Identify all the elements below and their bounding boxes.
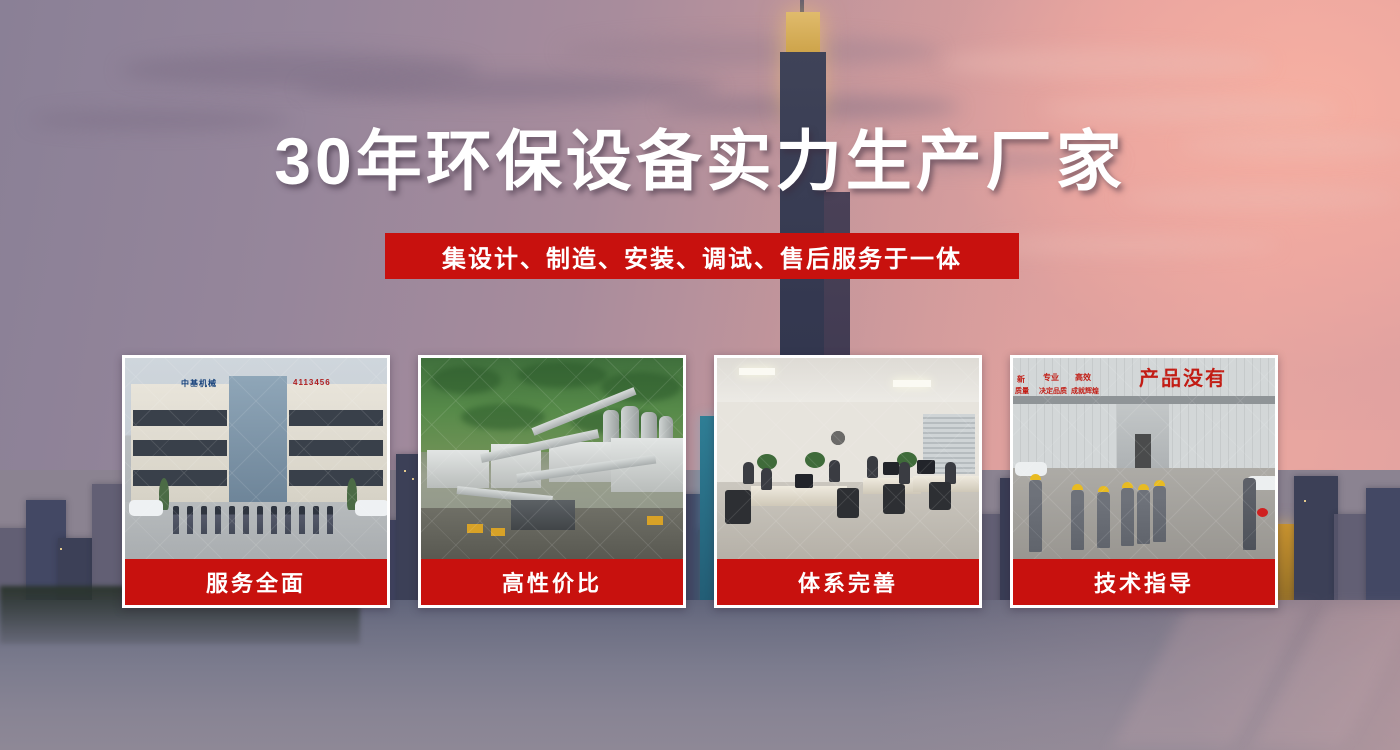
feature-card[interactable]: 体系完善 xyxy=(714,355,982,608)
banner-stage: 30年环保设备实力生产厂家 集设计、制造、安装、调试、售后服务于一体 中基机械 … xyxy=(0,0,1400,750)
feature-card[interactable]: 产品没有 新 专业 质量 决定品质 高效 成就辉煌 xyxy=(1010,355,1278,608)
factory-wall-slogan: 产品没有 xyxy=(1139,362,1227,391)
feature-card[interactable]: 中基机械 4113456 xyxy=(122,355,390,608)
subtitle-text: 集设计、制造、安装、调试、售后服务于一体 xyxy=(442,239,962,274)
card-photo-office-building: 中基机械 4113456 xyxy=(125,358,387,559)
card-caption-bar: 体系完善 xyxy=(717,559,979,605)
card-caption-bar: 高性价比 xyxy=(421,559,683,605)
building-phone: 4113456 xyxy=(293,378,331,387)
card-caption-bar: 服务全面 xyxy=(125,559,387,605)
card-caption-text: 体系完善 xyxy=(798,566,898,598)
feature-card-list: 中基机械 4113456 xyxy=(122,355,1278,608)
card-caption-text: 高性价比 xyxy=(502,566,602,598)
card-caption-text: 技术指导 xyxy=(1094,566,1194,598)
card-photo-plant-aerial xyxy=(421,358,683,559)
card-caption-text: 服务全面 xyxy=(206,566,306,598)
feature-card[interactable]: 高性价比 xyxy=(418,355,686,608)
page-title: 30年环保设备实力生产厂家 xyxy=(0,128,1400,194)
building-signage: 中基机械 xyxy=(181,378,217,389)
card-photo-office-interior xyxy=(717,358,979,559)
card-caption-bar: 技术指导 xyxy=(1013,559,1275,605)
subtitle-bar: 集设计、制造、安装、调试、售后服务于一体 xyxy=(385,233,1019,279)
card-photo-workers-training: 产品没有 新 专业 质量 决定品质 高效 成就辉煌 xyxy=(1013,358,1275,559)
